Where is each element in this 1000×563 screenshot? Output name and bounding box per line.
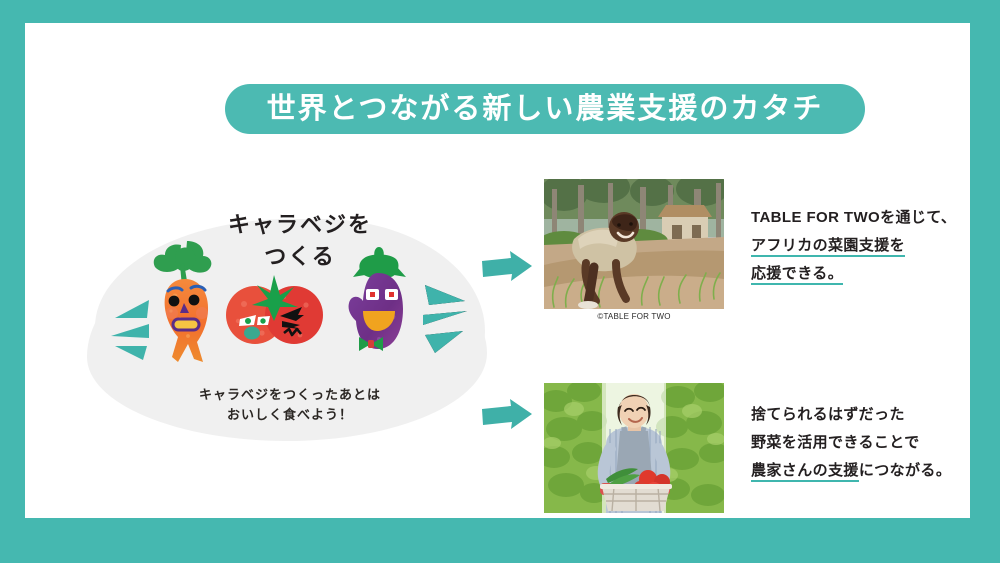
sparkle-right-icon xyxy=(421,281,469,353)
right-arrow-icon-2 xyxy=(481,399,533,435)
description-line: TABLE FOR TWOを通じて、 xyxy=(751,204,1000,232)
right-arrow-icon-1 xyxy=(481,251,533,287)
photo-japanese-farmer-vegetables xyxy=(544,383,724,513)
title-banner: 世界とつながる新しい農業支援のカタチ xyxy=(225,84,865,134)
description-line: 農家さんの支援につながる。 xyxy=(751,457,1000,485)
tomato-character xyxy=(226,271,324,349)
illustration-caption-line1: キャラベジをつくったあとは xyxy=(165,385,415,405)
illustration-caption: キャラベジをつくったあとは おいしく食べよう！ xyxy=(165,385,415,425)
photo-african-child-garden xyxy=(544,179,724,309)
description-line: 応援できる。 xyxy=(751,260,1000,288)
description-line: アフリカの菜園支援を xyxy=(751,232,1000,260)
description-line: 野菜を活用できることで xyxy=(751,429,1000,457)
description-line: 捨てられるはずだった xyxy=(751,401,1000,429)
eggplant-character xyxy=(343,245,415,360)
photo-credit: ©TABLE FOR TWO xyxy=(544,312,724,321)
page-title: 世界とつながる新しい農業支援のカタチ xyxy=(267,95,824,124)
slide-canvas: 世界とつながる新しい農業支援のカタチ キャラベジを つくる xyxy=(25,23,970,518)
description-block-1: TABLE FOR TWOを通じて、 アフリカの菜園支援を 応援できる。 xyxy=(751,204,1000,287)
description-block-2: 捨てられるはずだった 野菜を活用できることで 農家さんの支援につながる。 xyxy=(751,401,1000,484)
slide-frame: 世界とつながる新しい農業支援のカタチ キャラベジを つくる xyxy=(0,0,1000,563)
illustration-caption-line2: おいしく食べよう！ xyxy=(165,405,415,425)
illustration-heading-line1: キャラベジを xyxy=(175,209,425,241)
sparkle-left-icon xyxy=(109,298,151,360)
carrot-character xyxy=(147,241,225,366)
